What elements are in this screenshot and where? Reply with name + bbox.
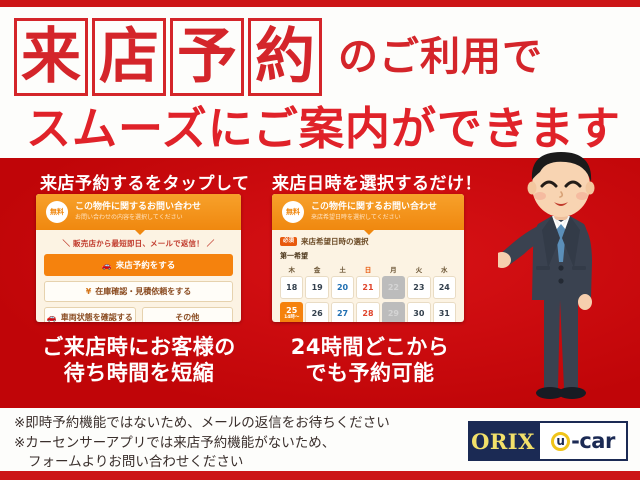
day-number: 22 <box>388 284 399 292</box>
weekday-header-row: 木金土日月火水 <box>280 264 456 276</box>
right-caption-line1: 24時間どこから <box>264 335 476 361</box>
day-number: 24 <box>439 284 450 292</box>
secondary-button-row: 🚗 車両状態を確認する その他 <box>44 307 233 322</box>
left-caption-line2: 待ち時間を短縮 <box>22 361 256 387</box>
calendar-day-26[interactable]: 26 <box>305 302 328 322</box>
day-number: 30 <box>413 310 424 318</box>
weekday-火: 火 <box>407 264 430 276</box>
calendar-body: 必須 来店希望日時の選択 第一希望 木金土日月火水 18192021222324… <box>272 230 464 322</box>
inquiry-form-title: この物件に関するお問い合わせ <box>75 202 201 213</box>
vehicle-condition-button[interactable]: 🚗 車両状態を確認する <box>44 307 136 322</box>
top-red-rule <box>0 0 640 7</box>
day-number: 26 <box>312 310 323 318</box>
first-preference-label: 第一希望 <box>280 251 456 261</box>
day-number: 29 <box>388 310 399 318</box>
orix-ucar-logo: ORIX u -car <box>468 421 628 461</box>
weekday-日: 日 <box>356 264 379 276</box>
date-picker-title: この物件に関するお問い合わせ <box>311 202 437 213</box>
day-number: 25 <box>286 307 297 315</box>
reply-lead-text: ＼ 販売店から最短即日、メールで返信！ ／ <box>44 238 233 249</box>
calendar-day-20[interactable]: 20 <box>331 276 354 299</box>
ucar-wordmark: u -car <box>538 421 628 461</box>
calendar-day-23[interactable]: 23 <box>407 276 430 299</box>
required-badge: 必須 <box>280 237 297 246</box>
kanji-box-1: 来 <box>14 18 88 96</box>
calendar-day-27[interactable]: 27 <box>331 302 354 322</box>
disclaimer-line-1: ※即時予約機能ではないため、メールの返信をお待ちください <box>14 414 390 434</box>
orix-wordmark: ORIX <box>468 421 538 461</box>
left-caption: ご来店時にお客様の 待ち時間を短縮 <box>22 335 256 386</box>
calendar-day-22: 22 <box>382 276 405 299</box>
promo-banner: 来 店 予 約 のご利用で スムーズにご案内ができます 来店予約するをタップして… <box>0 0 640 480</box>
car-icon: 🚗 <box>47 313 57 322</box>
date-picker-header: 無料 この物件に関するお問い合わせ 来店希望日時を選択してください <box>272 194 464 230</box>
right-caption-line2: でも予約可能 <box>264 361 476 387</box>
orix-text: ORIX <box>471 429 535 454</box>
calendar-day-31[interactable]: 31 <box>433 302 456 322</box>
stock-quote-button[interactable]: ¥ 在庫確認・見積依頼をする <box>44 281 233 302</box>
date-picker-header-text: この物件に関するお問い合わせ 来店希望日時を選択してください <box>311 202 437 222</box>
day-number: 19 <box>312 284 323 292</box>
disclaimer-line-3: フォームよりお問い合わせください <box>14 453 390 473</box>
kanji-box-2: 店 <box>92 18 166 96</box>
inquiry-form-header: 無料 この物件に関するお問い合わせ お問い合わせの内容を選択してください <box>36 194 241 230</box>
car-text: -car <box>571 429 615 453</box>
yen-icon: ¥ <box>86 287 92 296</box>
other-label: その他 <box>175 312 199 322</box>
required-field-line: 必須 来店希望日時の選択 <box>280 236 456 247</box>
headline-row-1: 来 店 予 約 のご利用で <box>14 18 543 96</box>
calendar-day-28[interactable]: 28 <box>356 302 379 322</box>
date-picker-subtitle: 来店希望日時を選択してください <box>311 214 437 222</box>
inquiry-form-body: ＼ 販売店から最短即日、メールで返信！ ／ 🚗 来店予約をする ¥ 在庫確認・見… <box>36 230 241 322</box>
weekday-金: 金 <box>305 264 328 276</box>
weekday-木: 木 <box>280 264 303 276</box>
inquiry-form-header-text: この物件に関するお問い合わせ お問い合わせの内容を選択してください <box>75 202 201 222</box>
left-section-label: 来店予約するをタップして <box>40 169 250 194</box>
u-circle-icon: u <box>551 432 570 451</box>
car-icon: 🚗 <box>102 261 112 270</box>
weekday-水: 水 <box>433 264 456 276</box>
inquiry-form-mockup: 無料 この物件に関するお問い合わせ お問い合わせの内容を選択してください ＼ 販… <box>36 194 241 322</box>
other-button[interactable]: その他 <box>142 307 234 322</box>
calendar-day-30[interactable]: 30 <box>407 302 430 322</box>
left-caption-line1: ご来店時にお客様の <box>22 335 256 361</box>
kanji-box-4: 約 <box>248 18 322 96</box>
day-number: 20 <box>337 284 348 292</box>
day-time-hint: 14時～ <box>284 316 299 321</box>
day-number: 31 <box>439 310 450 318</box>
free-badge: 無料 <box>46 201 68 223</box>
disclaimer-notes: ※即時予約機能ではないため、メールの返信をお待ちください ※カーセンサーアプリで… <box>14 414 390 473</box>
weekday-土: 土 <box>331 264 354 276</box>
right-section-label: 来店日時を選択するだけ！ <box>272 169 482 194</box>
free-badge: 無料 <box>282 201 304 223</box>
bottom-red-rule <box>0 471 640 480</box>
calendar-week-row: 18192021222324 <box>280 276 456 299</box>
calendar-day-25[interactable]: 2514時～ <box>280 302 303 322</box>
day-number: 28 <box>362 310 373 318</box>
day-number: 21 <box>362 284 373 292</box>
day-number: 23 <box>413 284 424 292</box>
vehicle-condition-label: 車両状態を確認する <box>61 312 133 322</box>
headline-block: 来 店 予 約 のご利用で スムーズにご案内ができます <box>0 10 640 156</box>
headline-tail: のご利用で <box>338 37 543 77</box>
calendar-day-18[interactable]: 18 <box>280 276 303 299</box>
calendar-day-24[interactable]: 24 <box>433 276 456 299</box>
calendar-day-29: 29 <box>382 302 405 322</box>
weekday-月: 月 <box>382 264 405 276</box>
kanji-box-3: 予 <box>170 18 244 96</box>
reserve-visit-button[interactable]: 🚗 来店予約をする <box>44 254 233 276</box>
day-number: 18 <box>286 284 297 292</box>
businessman-illustration <box>498 150 626 412</box>
inquiry-form-subtitle: お問い合わせの内容を選択してください <box>75 214 201 222</box>
required-field-label: 来店希望日時の選択 <box>301 236 369 247</box>
headline-row-2: スムーズにご案内ができます <box>26 106 621 151</box>
right-caption: 24時間どこから でも予約可能 <box>264 335 476 386</box>
disclaimer-line-2: ※カーセンサーアプリでは来店予約機能がないため、 <box>14 434 390 454</box>
day-number: 27 <box>337 310 348 318</box>
reserve-visit-label: 来店予約をする <box>116 259 176 271</box>
stock-quote-label: 在庫確認・見積依頼をする <box>95 286 191 297</box>
calendar-date-grid: 181920212223242514時～262728293031 <box>280 276 456 322</box>
calendar-day-21[interactable]: 21 <box>356 276 379 299</box>
calendar-week-row: 2514時～262728293031 <box>280 302 456 322</box>
calendar-day-19[interactable]: 19 <box>305 276 328 299</box>
date-picker-mockup: 無料 この物件に関するお問い合わせ 来店希望日時を選択してください 必須 来店希… <box>272 194 464 322</box>
